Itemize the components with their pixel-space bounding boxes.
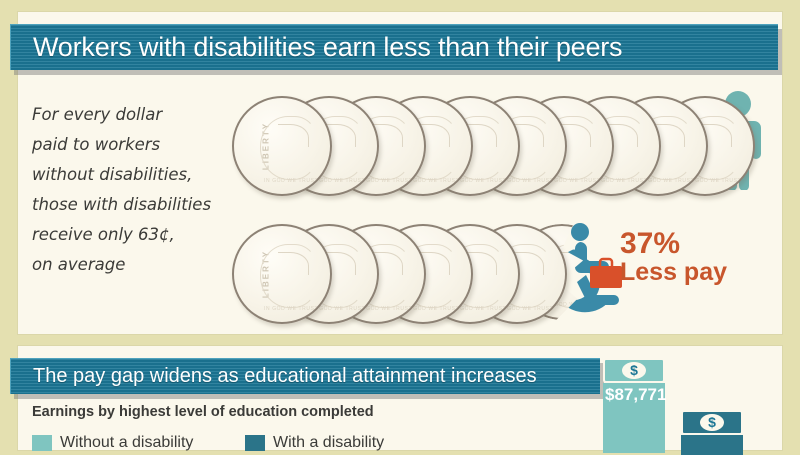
legend-swatch-without-disability bbox=[32, 435, 52, 451]
banknote-icon: $ bbox=[603, 358, 665, 383]
less-pay-callout: 37% Less pay bbox=[620, 228, 727, 285]
dollar-sign-glyph: $ bbox=[622, 362, 646, 379]
bar-without-disability: $ $87,771 bbox=[603, 358, 665, 453]
bar-fill-with-disability bbox=[681, 435, 743, 455]
banknote-icon: $ bbox=[681, 410, 743, 435]
intro-line-1: For every dollar bbox=[32, 100, 237, 130]
legend-swatch-with-disability bbox=[245, 435, 265, 451]
intro-line-3: without disabilities, bbox=[32, 160, 237, 190]
less-pay-percent: 37% bbox=[620, 228, 727, 259]
coin: LIBERTYIN GOD WE TRUST bbox=[232, 96, 332, 196]
bar-value-without-disability: $87,771 bbox=[603, 383, 665, 405]
intro-line-2: paid to workers bbox=[32, 130, 237, 160]
coin: LIBERTYIN GOD WE TRUST bbox=[232, 224, 332, 324]
coin-motto-text: IN GOD WE TRUST bbox=[264, 178, 318, 184]
legend-label-with-disability: With a disability bbox=[273, 434, 384, 452]
less-pay-label: Less pay bbox=[620, 259, 727, 285]
legend-label-without-disability: Without a disability bbox=[60, 434, 193, 452]
infographic-stage: Workers with disabilities earn less than… bbox=[0, 0, 800, 450]
intro-line-4: those with disabilities bbox=[32, 190, 237, 220]
bottom-banner: The pay gap widens as educational attain… bbox=[10, 358, 600, 394]
legend-item-without-disability: Without a disability bbox=[32, 434, 193, 452]
dollar-sign-glyph: $ bbox=[700, 414, 724, 431]
intro-paragraph: For every dollar paid to workers without… bbox=[32, 100, 237, 280]
legend-item-with-disability: With a disability bbox=[245, 434, 384, 452]
chart-subtitle: Earnings by highest level of education c… bbox=[32, 404, 374, 420]
bar-with-disability: $ bbox=[681, 410, 743, 455]
intro-line-5: receive only 63¢, bbox=[32, 220, 237, 250]
intro-line-6: on average bbox=[32, 250, 237, 280]
coin-motto-text: IN GOD WE TRUST bbox=[264, 306, 318, 312]
top-banner: Workers with disabilities earn less than… bbox=[10, 24, 778, 70]
bar-fill-without-disability: $87,771 bbox=[603, 383, 665, 453]
bottom-banner-title: The pay gap widens as educational attain… bbox=[33, 365, 537, 388]
top-banner-title: Workers with disabilities earn less than… bbox=[33, 32, 622, 63]
